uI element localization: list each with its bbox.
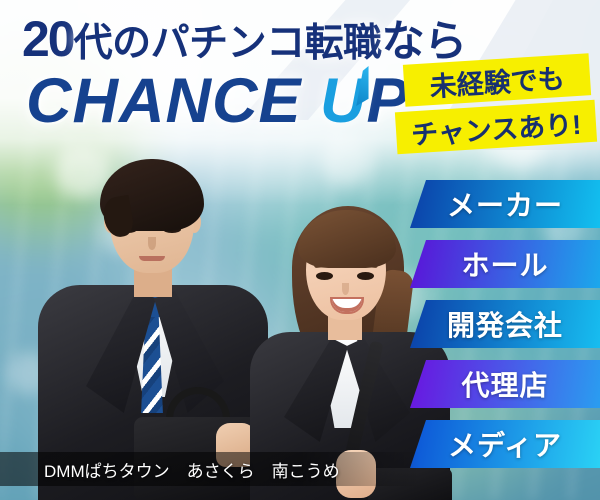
people-photo-group	[0, 140, 430, 500]
category-item-hall[interactable]: ホール	[410, 240, 600, 288]
category-list: メーカー ホール 開発会社 代理店 メディア	[400, 180, 600, 480]
headline-main: 代のパチンコ転職	[74, 22, 382, 65]
category-label-developer: 開発会社	[447, 304, 563, 344]
chance-up-logo: CHANCE UP	[26, 70, 410, 133]
headline-text: 20代のパチンコ転職なら	[22, 14, 482, 64]
caption-bar: DMMぱちタウン あさくら 南こうめ	[0, 452, 420, 486]
category-label-agency: 代理店	[461, 364, 548, 404]
headline-tail: なら	[382, 18, 467, 66]
woman-eye-right	[357, 272, 374, 280]
man-nose	[148, 237, 156, 250]
headline-age-number: 20	[22, 11, 74, 67]
woman-nose	[342, 283, 349, 295]
category-label-hall: ホール	[461, 244, 548, 284]
promo-banner: 20代のパチンコ転職なら CHANCE UP 未経験でも チャンスあり! メーカ…	[0, 0, 600, 500]
category-item-media[interactable]: メディア	[410, 420, 600, 468]
category-item-developer[interactable]: 開発会社	[410, 300, 600, 348]
logo-up-u-letter: U	[320, 70, 367, 133]
man-hair	[100, 159, 204, 231]
caption-credits: DMMぱちタウン あさくら 南こうめ	[0, 457, 340, 482]
man-mouth	[139, 256, 165, 261]
category-item-maker[interactable]: メーカー	[410, 180, 600, 228]
category-item-agency[interactable]: 代理店	[410, 360, 600, 408]
category-label-maker: メーカー	[447, 184, 563, 224]
woman-eye-left	[316, 272, 333, 280]
badge-1-label: 未経験でも	[428, 56, 565, 103]
logo-chance-word: CHANCE	[26, 66, 302, 136]
category-label-media: メディア	[448, 424, 562, 464]
businessman-figure	[38, 155, 268, 500]
